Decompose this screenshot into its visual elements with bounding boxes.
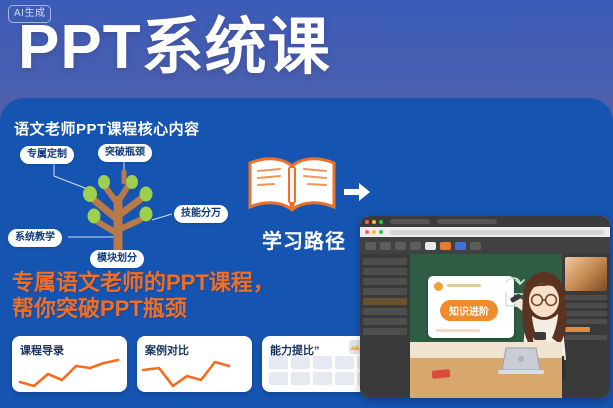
grid-block	[291, 372, 310, 385]
layer-item[interactable]	[363, 318, 407, 325]
minimize-icon[interactable]	[372, 220, 376, 224]
grid-block	[269, 356, 288, 369]
promo-headline-line1: 专属语文老师的PPT课程，	[12, 270, 275, 296]
page-title: PPT系统课	[18, 12, 331, 84]
slide-title-placeholder	[447, 284, 481, 287]
open-book-icon	[246, 153, 338, 215]
slide-text-placeholder	[436, 329, 480, 332]
arrow-right-icon	[344, 181, 370, 203]
feature-card[interactable]: 案例对比	[137, 336, 252, 392]
section-title: 语文老师PPT课程核心内容	[14, 118, 200, 139]
close-icon[interactable]	[365, 230, 369, 234]
logo-icon	[434, 282, 443, 291]
tree-node-label: 系统教学	[8, 229, 62, 247]
layer-item[interactable]	[363, 328, 407, 335]
editor-canvas[interactable]: 知识进阶	[410, 254, 562, 398]
maximize-icon[interactable]	[379, 220, 383, 224]
learning-path-label: 学习路径	[246, 225, 362, 254]
toolbar-button[interactable]	[455, 242, 466, 250]
grid-block	[313, 356, 332, 369]
window-titlebar	[360, 216, 610, 227]
browser-toolbar	[360, 227, 610, 237]
grid-block	[335, 372, 354, 385]
layer-item[interactable]	[363, 288, 407, 295]
feature-card-list: 课程导录 案例对比 能力提比”	[12, 336, 377, 392]
learning-path-block: 学习路径	[246, 153, 356, 258]
tree-node-label: 突破瓶颈	[98, 144, 152, 162]
address-bar[interactable]	[390, 230, 605, 235]
toolbar-button[interactable]	[380, 242, 391, 250]
knowledge-tree-diagram: 专属定制 突破瓶颈 技能分万 系统教学 模块划分	[6, 142, 252, 262]
promo-headline: 专属语文老师的PPT课程， 帮你突破PPT瓶颈	[12, 270, 275, 322]
layer-item-selected[interactable]	[363, 298, 407, 305]
poster-root: AI生成 PPT系统课 语文老师PPT课程核心内容	[0, 0, 613, 408]
maximize-icon[interactable]	[379, 230, 383, 234]
editor-body: 知识进阶	[360, 254, 610, 398]
layer-item[interactable]	[363, 308, 407, 315]
app-screenshot-mock: 知识进阶	[360, 216, 610, 398]
line-chart-graphic	[12, 356, 127, 390]
grid-block	[269, 372, 288, 385]
toolbar-button-active[interactable]	[440, 242, 451, 250]
titlebar-field	[437, 219, 497, 224]
minimize-icon[interactable]	[372, 230, 376, 234]
tree-node-label: 技能分万	[174, 205, 228, 223]
layers-panel[interactable]	[360, 254, 410, 398]
layer-item[interactable]	[363, 268, 407, 275]
layer-item[interactable]	[363, 258, 407, 265]
promo-headline-line2: 帮你突破PPT瓶颈	[12, 296, 275, 322]
editor-toolbar	[360, 237, 610, 254]
layer-item[interactable]	[363, 278, 407, 285]
toolbar-button[interactable]	[395, 242, 406, 250]
feature-card[interactable]: 课程导录	[12, 336, 127, 392]
ai-generated-badge: AI生成	[8, 5, 51, 23]
toolbar-button[interactable]	[365, 242, 376, 250]
tree-node-label: 模块划分	[90, 250, 144, 268]
grid-block	[291, 356, 310, 369]
content-panel: 语文老师PPT课程核心内容	[0, 98, 613, 408]
close-icon[interactable]	[365, 220, 369, 224]
toolbar-button[interactable]	[410, 242, 421, 250]
grid-block	[335, 356, 354, 369]
toolbar-button[interactable]	[425, 242, 436, 250]
line-chart-graphic	[137, 356, 252, 390]
tree-node-label: 专属定制	[20, 146, 74, 164]
toolbar-button[interactable]	[470, 242, 481, 250]
grid-block	[313, 372, 332, 385]
titlebar-field	[390, 219, 430, 224]
knowledge-badge: 知识进阶	[440, 300, 498, 321]
laptop-icon	[498, 346, 544, 376]
